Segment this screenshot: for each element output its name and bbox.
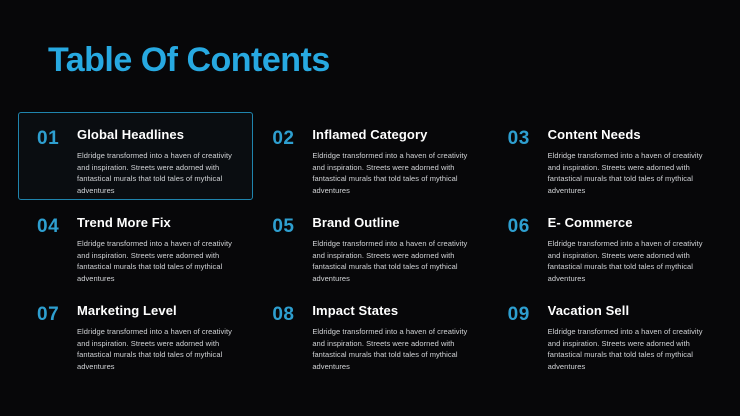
toc-heading: Content Needs: [548, 127, 705, 143]
toc-description: Eldridge transformed into a haven of cre…: [77, 150, 234, 196]
toc-description: Eldridge transformed into a haven of cre…: [548, 150, 705, 196]
toc-heading: Global Headlines: [77, 127, 234, 143]
toc-heading: Inflamed Category: [312, 127, 469, 143]
toc-heading: Impact States: [312, 303, 469, 319]
toc-number: 06: [508, 215, 546, 237]
toc-heading: Brand Outline: [312, 215, 469, 231]
toc-description: Eldridge transformed into a haven of cre…: [77, 326, 234, 372]
toc-body: Impact States Eldridge transformed into …: [310, 303, 469, 372]
page-title: Table Of Contents: [48, 40, 330, 80]
toc-number: 07: [37, 303, 75, 325]
toc-body: Vacation Sell Eldridge transformed into …: [546, 303, 705, 372]
toc-heading: Marketing Level: [77, 303, 234, 319]
toc-description: Eldridge transformed into a haven of cre…: [312, 238, 469, 284]
toc-item-07[interactable]: 07 Marketing Level Eldridge transformed …: [18, 288, 253, 376]
toc-heading: E- Commerce: [548, 215, 705, 231]
toc-number: 05: [272, 215, 310, 237]
toc-body: Global Headlines Eldridge transformed in…: [75, 127, 234, 196]
toc-description: Eldridge transformed into a haven of cre…: [312, 150, 469, 196]
toc-description: Eldridge transformed into a haven of cre…: [312, 326, 469, 372]
toc-number: 01: [37, 127, 75, 149]
toc-item-05[interactable]: 05 Brand Outline Eldridge transformed in…: [253, 200, 488, 288]
toc-body: Marketing Level Eldridge transformed int…: [75, 303, 234, 372]
toc-number: 03: [508, 127, 546, 149]
toc-heading: Vacation Sell: [548, 303, 705, 319]
toc-number: 02: [272, 127, 310, 149]
toc-body: Content Needs Eldridge transformed into …: [546, 127, 705, 196]
table-of-contents-slide: Table Of Contents 01 Global Headlines El…: [0, 0, 740, 416]
toc-description: Eldridge transformed into a haven of cre…: [77, 238, 234, 284]
toc-item-06[interactable]: 06 E- Commerce Eldridge transformed into…: [489, 200, 724, 288]
toc-item-08[interactable]: 08 Impact States Eldridge transformed in…: [253, 288, 488, 376]
toc-item-03[interactable]: 03 Content Needs Eldridge transformed in…: [489, 112, 724, 200]
toc-number: 04: [37, 215, 75, 237]
toc-item-02[interactable]: 02 Inflamed Category Eldridge transforme…: [253, 112, 488, 200]
toc-item-04[interactable]: 04 Trend More Fix Eldridge transformed i…: [18, 200, 253, 288]
toc-grid: 01 Global Headlines Eldridge transformed…: [18, 112, 724, 376]
toc-body: Inflamed Category Eldridge transformed i…: [310, 127, 469, 196]
toc-heading: Trend More Fix: [77, 215, 234, 231]
toc-item-09[interactable]: 09 Vacation Sell Eldridge transformed in…: [489, 288, 724, 376]
toc-description: Eldridge transformed into a haven of cre…: [548, 238, 705, 284]
toc-body: Trend More Fix Eldridge transformed into…: [75, 215, 234, 284]
toc-body: E- Commerce Eldridge transformed into a …: [546, 215, 705, 284]
toc-description: Eldridge transformed into a haven of cre…: [548, 326, 705, 372]
toc-number: 08: [272, 303, 310, 325]
toc-number: 09: [508, 303, 546, 325]
toc-body: Brand Outline Eldridge transformed into …: [310, 215, 469, 284]
toc-item-01[interactable]: 01 Global Headlines Eldridge transformed…: [18, 112, 253, 200]
